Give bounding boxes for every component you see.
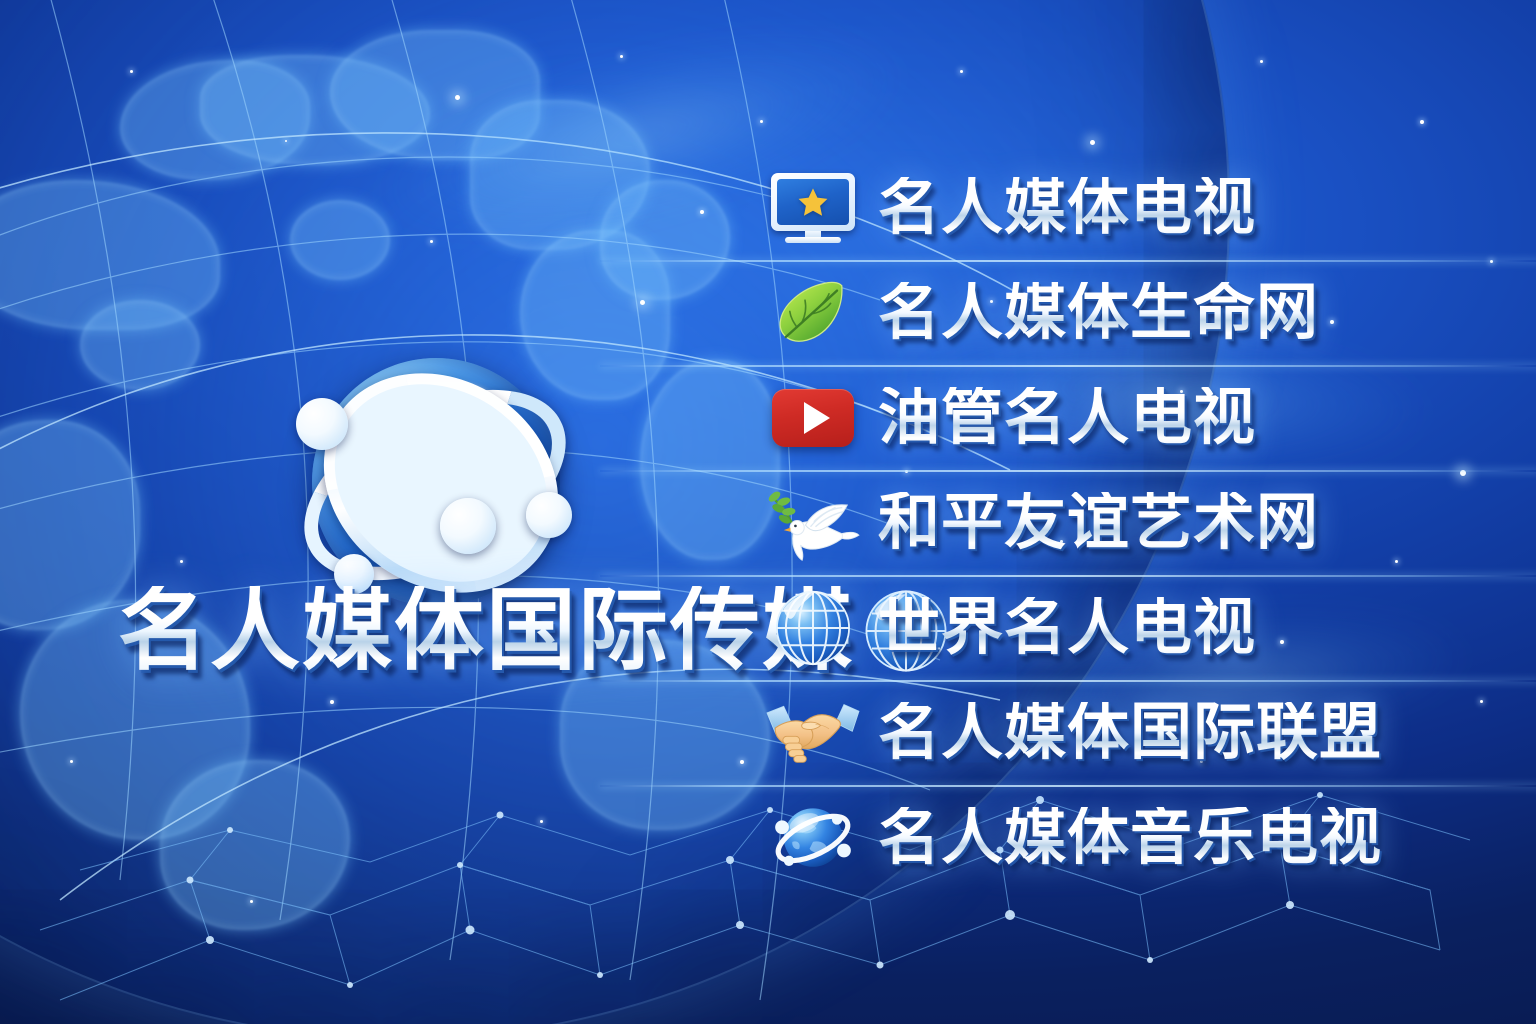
orbit-globe-icon: [770, 795, 856, 881]
leaf-icon: [770, 270, 856, 356]
logo-orbit-node: [296, 398, 348, 450]
dove-icon: [770, 480, 856, 566]
tv-star-icon: [770, 165, 856, 251]
list-item[interactable]: 名人媒体生命网: [770, 260, 1470, 365]
poster-canvas: 名人媒体国际传媒: [0, 0, 1536, 1024]
list-item[interactable]: 名人媒体电视: [770, 155, 1470, 260]
page-title: 名人媒体国际传媒: [118, 586, 854, 676]
list-item-label: 名人媒体国际联盟: [878, 702, 1382, 764]
list-item[interactable]: 名人媒体音乐电视: [770, 785, 1470, 890]
list-item-label: 和平友谊艺术网: [878, 492, 1319, 554]
list-item-label: 名人媒体生命网: [878, 282, 1319, 344]
list-item[interactable]: 名人媒体国际联盟: [770, 680, 1470, 785]
youtube-icon: [770, 375, 856, 461]
handshake-icon: [770, 690, 856, 776]
list-item-label: 世界名人电视: [878, 597, 1256, 659]
list-item[interactable]: 和平友谊艺术网: [770, 470, 1470, 575]
list-item-label: 油管名人电视: [878, 387, 1256, 449]
logo-orbit-node: [526, 492, 572, 538]
list-item-label: 名人媒体音乐电视: [878, 807, 1382, 869]
list-item[interactable]: 油管名人电视: [770, 365, 1470, 470]
globe-grid-icon: [770, 585, 856, 671]
list-item-label: 名人媒体电视: [878, 177, 1256, 239]
list-item[interactable]: 世界名人电视: [770, 575, 1470, 680]
logo-orbit-node: [440, 498, 496, 554]
channel-list: 名人媒体电视: [770, 155, 1470, 890]
